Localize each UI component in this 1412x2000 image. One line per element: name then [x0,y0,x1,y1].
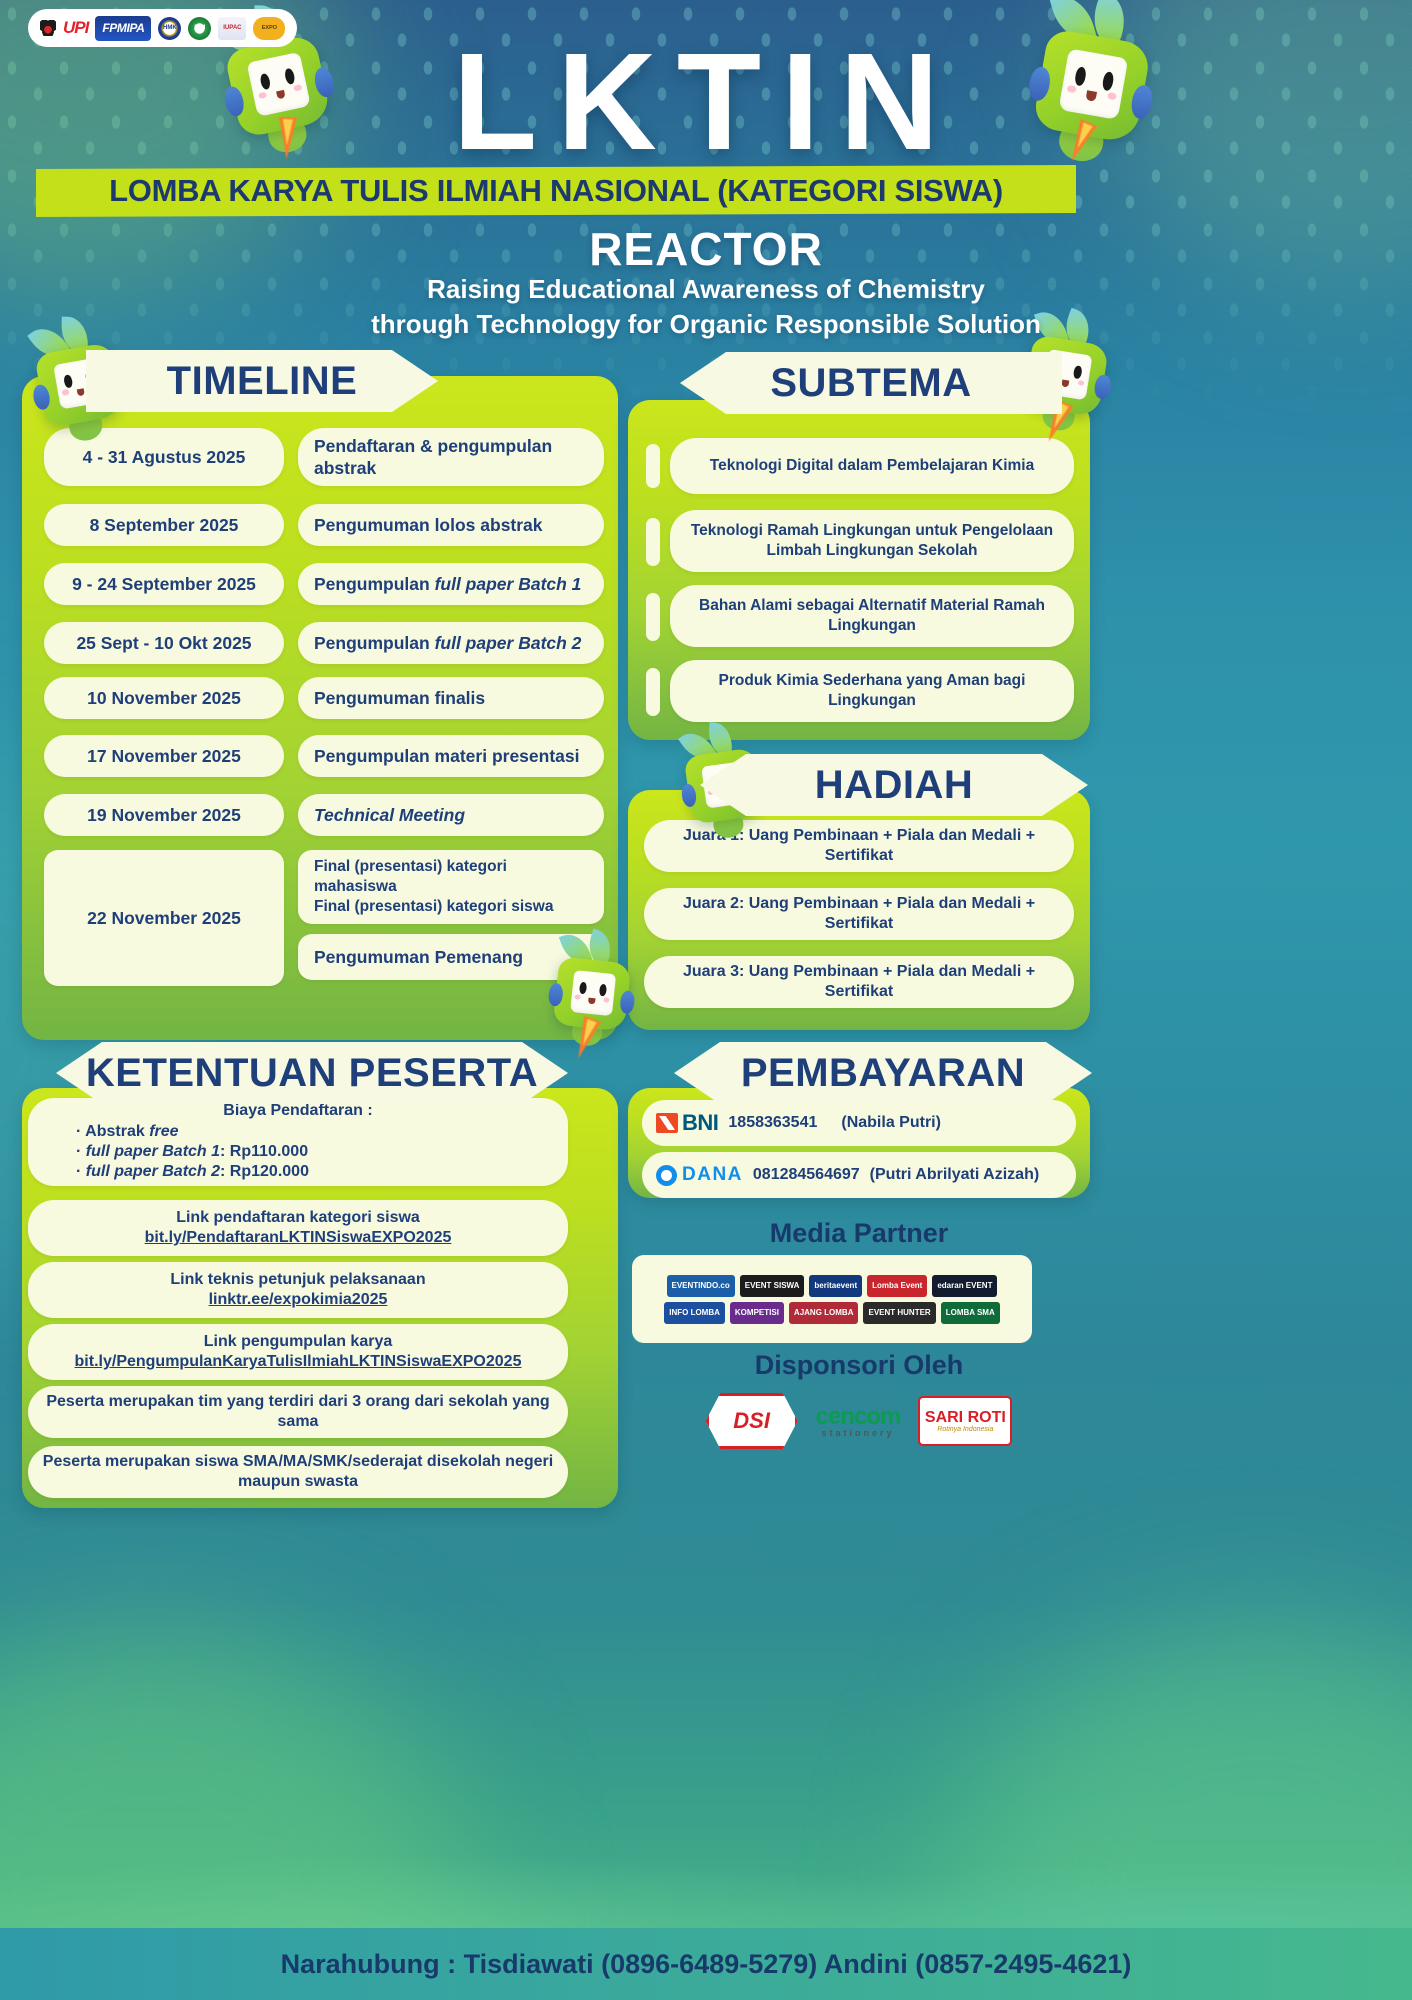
fee-item-label: · [76,1163,86,1180]
timeline-final-date: 22 November 2025 [44,850,284,986]
sari-roti-label: SARI ROTI [925,1410,1006,1426]
subtema-item: Teknologi Ramah Lingkungan untuk Pengelo… [670,510,1074,572]
subtema-tick [646,518,660,566]
fee-item-rest: : Rp110.000 [220,1143,308,1160]
timeline-row: 17 November 2025 Pengumpulan materi pres… [44,735,604,777]
timeline-row: 8 September 2025 Pengumuman lolos abstra… [44,504,604,546]
timeline-activity: Pengumpulan materi presentasi [298,735,604,777]
subtema-item: Bahan Alami sebagai Alternatif Material … [670,585,1074,647]
pembayaran-heading: PEMBAYARAN [674,1042,1092,1104]
sari-roti-sublabel: Rotinya Indonesia [937,1426,993,1433]
subtema-item: Produk Kimia Sederhana yang Aman bagi Li… [670,660,1074,722]
link-teknis-url[interactable]: linktr.ee/expokimia2025 [209,1290,388,1310]
fee-item-label: · Abstrak [76,1123,149,1140]
contact-footer: Narahubung : Tisdiawati (0896-6489-5279)… [0,1928,1412,2000]
theme-tagline: Raising Educational Awareness of Chemist… [0,272,1412,342]
hadiah-heading-text: HADIAH [815,763,974,808]
timeline-activity-plain: Pengumpulan [314,632,430,654]
ketentuan-rule: Peserta merupakan siswa SMA/MA/SMK/seder… [28,1446,568,1498]
link-pengumpulan[interactable]: Link pengumpulan karya bit.ly/Pengumpula… [28,1324,568,1380]
timeline-row: 4 - 31 Agustus 2025 Pendaftaran & pengum… [44,428,604,486]
payment-row-bni: BNI 1858363541 (Nabila Putri) [642,1100,1076,1146]
dana-dot-icon [656,1165,677,1186]
subtema-heading: SUBTEMA [680,352,1062,414]
hadiah-item: Juara 2: Uang Pembinaan + Piala dan Meda… [644,888,1074,940]
link-pendaftaran-label: Link pendaftaran kategori siswa [176,1208,420,1228]
hadiah-item: Juara 3: Uang Pembinaan + Piala dan Meda… [644,956,1074,1008]
media-partner-logo: LOMBA SMA [941,1302,1000,1324]
link-pendaftaran-url[interactable]: bit.ly/PendaftaranLKTINSiswaEXPO2025 [145,1228,452,1248]
link-pendaftaran[interactable]: Link pendaftaran kategori siswa bit.ly/P… [28,1200,568,1256]
ketentuan-heading: KETENTUAN PESERTA [56,1042,568,1104]
timeline-activity-plain: Pengumpulan [314,573,430,595]
media-partner-logos: EVENTINDO.co EVENT SISWA beritaevent Lom… [632,1255,1032,1343]
cencom-label: cencom [816,1403,901,1430]
link-teknis[interactable]: Link teknis petunjuk pelaksanaan linktr.… [28,1262,568,1318]
media-partner-logo: EVENTINDO.co [667,1275,735,1297]
dsi-logo: DSI [706,1393,798,1449]
timeline-heading-text: TIMELINE [167,359,358,404]
subtema-item: Teknologi Digital dalam Pembelajaran Kim… [670,438,1074,494]
upi-logo: UPI [63,16,88,41]
subtema-heading-text: SUBTEMA [770,361,971,406]
ketentuan-fee-box: Biaya Pendaftaran : · Abstrak free · ful… [28,1098,568,1186]
mascot-robot-right [1032,28,1152,145]
timeline-final-activity: Final (presentasi) kategori mahasiswa Fi… [298,850,604,924]
media-partner-logo: Lomba Event [867,1275,927,1297]
bni-logo: BNI [656,1110,718,1136]
theme-name: REACTOR [0,222,1412,276]
timeline-date: 10 November 2025 [44,677,284,719]
fee-item-italic: free [149,1123,178,1140]
upi-flower-icon [40,20,56,36]
wave-decoration [0,1818,1412,1938]
theme-tagline-line1: Raising Educational Awareness of Chemist… [0,272,1412,307]
dana-account-number: 081284564697 [753,1166,860,1184]
dana-account-holder: (Putri Abrilyati Azizah) [870,1166,1040,1184]
timeline-activity: Pengumpulan full paper Batch 2 [298,622,604,664]
timeline-date: 8 September 2025 [44,504,284,546]
timeline-row: 19 November 2025 Technical Meeting [44,794,604,836]
dana-label: DANA [682,1164,743,1186]
poster-root: UPI FPMIPA HMK KIM IUPAC EXPO LKTIN LOMB… [0,0,1412,2000]
subtema-tick [646,444,660,488]
sponsor-logos: DSI cencom stationery SARI ROTI Rotinya … [628,1388,1090,1454]
media-partner-logo: EVENT SISWA [740,1275,805,1297]
mascot-robot-pembayaran [553,956,632,1031]
media-partner-logo: INFO LOMBA [664,1302,725,1324]
media-partner-logo: KOMPETISI [730,1302,784,1324]
media-partner-logo: edaran EVENT [932,1275,997,1297]
timeline-heading: TIMELINE [86,350,438,412]
timeline-activity: Pengumuman finalis [298,677,604,719]
timeline-activity: Pengumuman lolos abstrak [298,504,604,546]
fee-item: · full paper Batch 1: Rp110.000 [42,1142,308,1162]
timeline-activity: Pengumpulan full paper Batch 1 [298,563,604,605]
kimia-logo: KIM [188,17,211,40]
timeline-row: 9 - 24 September 2025 Pengumpulan full p… [44,563,604,605]
event-subtitle-ribbon: LOMBA KARYA TULIS ILMIAH NASIONAL (KATEG… [36,165,1076,217]
fee-item-rest: : Rp120.000 [220,1163,309,1180]
hadiah-item: Juara 1: Uang Pembinaan + Piala dan Meda… [644,820,1074,872]
contact-footer-text: Narahubung : Tisdiawati (0896-6489-5279)… [281,1949,1132,1980]
bni-mark-icon [656,1113,678,1133]
mascot-robot-left [224,33,332,138]
timeline-row: 25 Sept - 10 Okt 2025 Pengumpulan full p… [44,622,604,664]
media-partner-logo: EVENT HUNTER [863,1302,935,1324]
bni-label: BNI [682,1110,718,1136]
fpmipa-logo: FPMIPA [95,16,151,41]
timeline-final-line2: Final (presentasi) kategori siswa [314,897,553,917]
fee-item-italic: full paper Batch 1 [86,1143,220,1160]
ketentuan-rule: Peserta merupakan tim yang terdiri dari … [28,1386,568,1438]
theme-tagline-line2: through Technology for Organic Responsib… [0,307,1412,342]
link-pengumpulan-url[interactable]: bit.ly/PengumpulanKaryaTulisIlmiahLKTINS… [75,1352,522,1372]
fee-item-italic: full paper Batch 2 [86,1163,220,1180]
media-partner-title: Media Partner [628,1218,1090,1249]
timeline-final-row: 22 November 2025 Final (presentasi) kate… [44,850,604,986]
bni-account-holder: (Nabila Putri) [841,1114,941,1132]
fee-item: · Abstrak free [42,1122,179,1142]
payment-row-dana: DANA 081284564697 (Putri Abrilyati Aziza… [642,1152,1076,1198]
fee-item: · full paper Batch 2: Rp120.000 [42,1162,309,1182]
timeline-activity: Technical Meeting [298,794,604,836]
timeline-date: 17 November 2025 [44,735,284,777]
organizer-logo-bar: UPI FPMIPA HMK KIM IUPAC EXPO [28,9,297,47]
sponsor-title: Disponsori Oleh [628,1350,1090,1381]
media-partner-logo: beritaevent [809,1275,862,1297]
cencom-sublabel: stationery [816,1429,901,1438]
iupac-logo: IUPAC [218,17,246,40]
timeline-final-line1: Final (presentasi) kategori mahasiswa [314,857,588,897]
timeline-activity-italic: full paper Batch 1 [435,573,582,595]
pembayaran-heading-text: PEMBAYARAN [741,1051,1025,1096]
himpunan-logo: HMK [158,17,181,40]
cencom-logo: cencom stationery [816,1405,901,1438]
subtema-tick [646,593,660,641]
fee-title: Biaya Pendaftaran : [42,1101,554,1121]
timeline-date: 9 - 24 September 2025 [44,563,284,605]
fee-item-label: · [76,1143,86,1160]
hadiah-heading: HADIAH [700,754,1088,816]
dana-logo: DANA [656,1164,743,1186]
timeline-date: 25 Sept - 10 Okt 2025 [44,622,284,664]
event-subtitle-text: LOMBA KARYA TULIS ILMIAH NASIONAL (KATEG… [109,173,1003,209]
partner-logo: EXPO [253,17,285,40]
event-title: LKTIN [0,30,1412,175]
media-partner-logo: AJANG LOMBA [789,1302,859,1324]
link-teknis-label: Link teknis petunjuk pelaksanaan [170,1270,425,1290]
timeline-row: 10 November 2025 Pengumuman finalis [44,677,604,719]
subtema-tick [646,668,660,716]
ketentuan-heading-text: KETENTUAN PESERTA [86,1051,538,1096]
timeline-activity: Pendaftaran & pengumpulan abstrak [298,428,604,486]
link-pengumpulan-label: Link pengumpulan karya [204,1332,392,1352]
sari-roti-logo: SARI ROTI Rotinya Indonesia [918,1396,1012,1446]
bni-account-number: 1858363541 [728,1114,817,1132]
timeline-date: 19 November 2025 [44,794,284,836]
timeline-activity-italic: full paper Batch 2 [435,632,582,654]
